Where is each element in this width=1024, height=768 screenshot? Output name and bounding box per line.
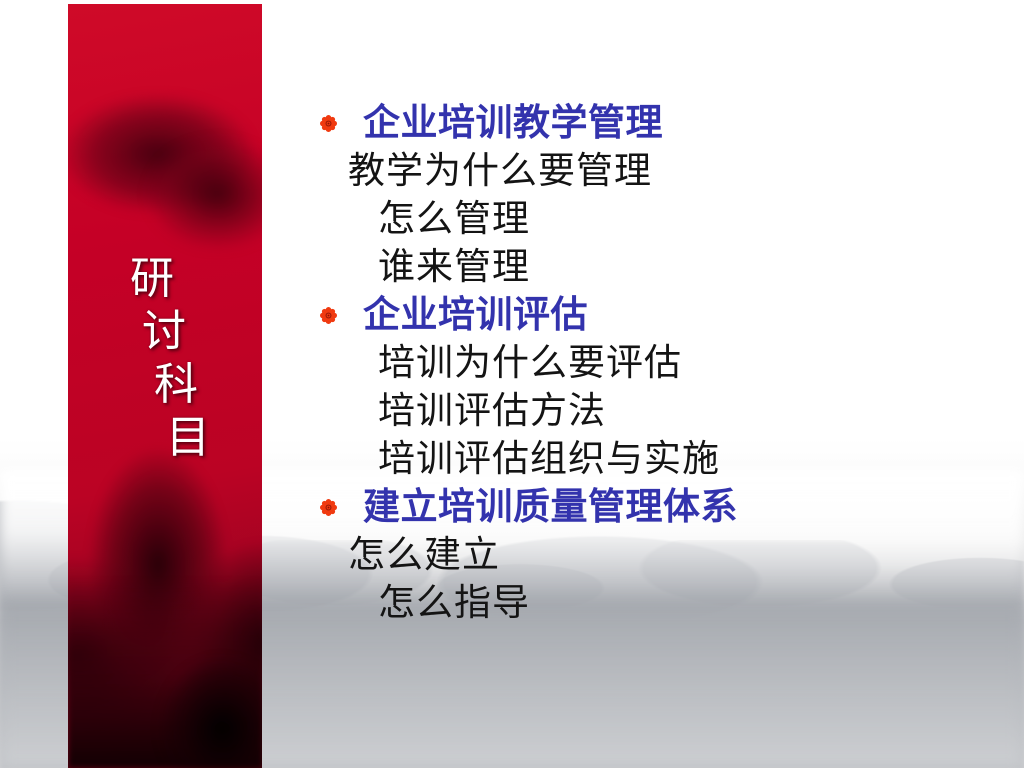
outline-content: 企业培训教学管理 教学为什么要管理 怎么管理 谁来管理 xyxy=(300,100,1000,628)
outline-item-3-2-text: 怎么指导 xyxy=(300,580,530,628)
outline-item-2-2[interactable]: 培训评估方法 xyxy=(300,388,1000,436)
outline-item-2-1[interactable]: 培训为什么要评估 xyxy=(300,340,1000,388)
banner-mountain-base-shadow xyxy=(68,578,262,768)
banner-mountain-main xyxy=(68,444,262,768)
banner-char-2: 讨 xyxy=(142,305,262,358)
outline-item-1-3[interactable]: 谁来管理 xyxy=(300,244,1000,292)
flower-bullet-icon xyxy=(320,499,337,516)
flower-bullet-icon xyxy=(320,307,337,324)
outline-heading-2-text: 企业培训评估 xyxy=(300,292,588,340)
outline-heading-3[interactable]: 建立培训质量管理体系 xyxy=(300,484,1000,532)
outline-item-3-2[interactable]: 怎么指导 xyxy=(300,580,1000,628)
banner-mountain-top xyxy=(68,64,262,274)
slide-canvas: 研 讨 科 目 xyxy=(0,0,1024,768)
flower-bullet-icon xyxy=(320,115,337,132)
banner-char-3: 科 xyxy=(154,358,262,411)
red-banner-panel: 研 讨 科 目 xyxy=(68,4,262,768)
outline-heading-1[interactable]: 企业培训教学管理 xyxy=(300,100,1000,148)
outline-item-2-2-text: 培训评估方法 xyxy=(300,388,606,436)
outline-item-2-3[interactable]: 培训评估组织与实施 xyxy=(300,436,1000,484)
outline-item-3-1[interactable]: 怎么建立 xyxy=(300,532,1000,580)
banner-char-4: 目 xyxy=(166,411,262,464)
outline-item-1-2[interactable]: 怎么管理 xyxy=(300,196,1000,244)
banner-vertical-title: 研 讨 科 目 xyxy=(68,252,262,464)
outline-item-1-3-text: 谁来管理 xyxy=(300,244,530,292)
outline-item-1-1[interactable]: 教学为什么要管理 xyxy=(300,148,1000,196)
outline-heading-3-text: 建立培训质量管理体系 xyxy=(300,484,738,532)
outline-item-1-2-text: 怎么管理 xyxy=(300,196,530,244)
outline-item-3-1-text: 怎么建立 xyxy=(300,532,500,580)
outline-heading-1-text: 企业培训教学管理 xyxy=(300,100,663,148)
outline-item-2-3-text: 培训评估组织与实施 xyxy=(300,436,720,484)
banner-mountain-dark-corner xyxy=(152,618,262,768)
outline-item-1-1-text: 教学为什么要管理 xyxy=(300,148,652,196)
banner-char-1: 研 xyxy=(130,252,262,305)
outline-item-2-1-text: 培训为什么要评估 xyxy=(300,340,682,388)
outline-heading-2[interactable]: 企业培训评估 xyxy=(300,292,1000,340)
